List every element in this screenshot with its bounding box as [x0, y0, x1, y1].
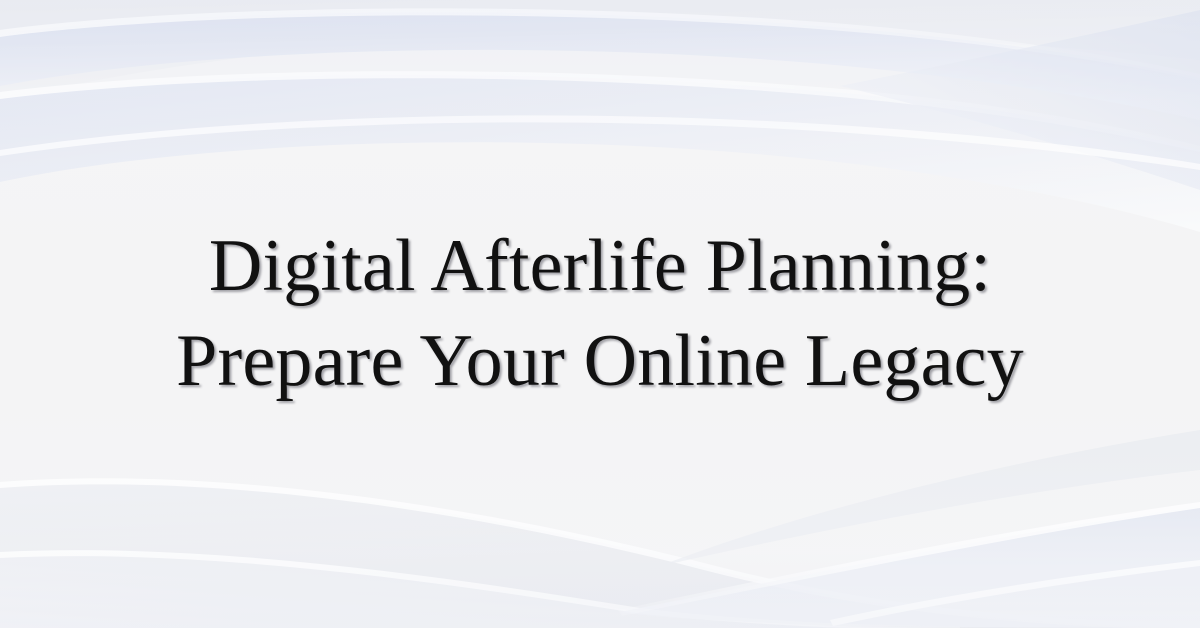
title-line-2: Prepare Your Online Legacy [176, 314, 1024, 409]
page-title: Digital Afterlife Planning: Prepare Your… [0, 0, 1200, 628]
title-banner: Digital Afterlife Planning: Prepare Your… [0, 0, 1200, 628]
title-line-1: Digital Afterlife Planning: [209, 219, 991, 314]
